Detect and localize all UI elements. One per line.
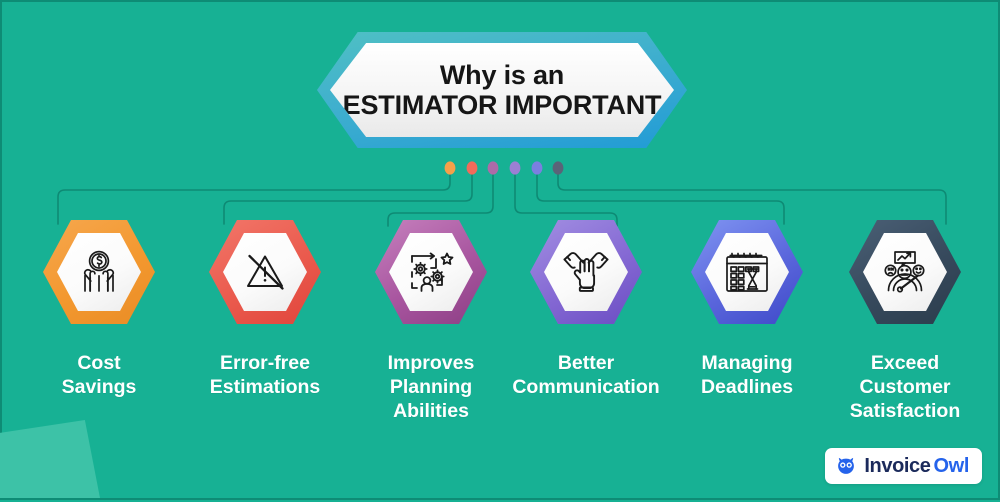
- item-label-managing-deadlines: Managing Deadlines: [662, 352, 832, 400]
- hexagon-cost-savings: [43, 220, 155, 324]
- hexagon-inner: [223, 233, 307, 311]
- item-better-communication[interactable]: Better Communication: [501, 220, 671, 400]
- item-label-cost-savings: Cost Savings: [14, 352, 184, 400]
- hexagon-better-communication: [530, 220, 642, 324]
- three-hands-together-icon: [558, 247, 614, 297]
- invoice-owl-logo[interactable]: InvoiceOwl: [825, 448, 982, 484]
- infographic-canvas: Why is an ESTIMATOR IMPORTANT: [2, 2, 998, 498]
- connector-exceed-customer: [558, 172, 946, 224]
- dot-better-comm-icon: [510, 161, 521, 174]
- item-label-improves-planning-abilities: Improves Planning Abilities: [346, 352, 516, 423]
- item-label-better-communication: Better Communication: [501, 352, 671, 400]
- connector-error-free: [224, 172, 472, 224]
- title-banner: Why is an ESTIMATOR IMPORTANT: [317, 32, 687, 148]
- page-title-line1: Why is an: [440, 60, 564, 90]
- connector-managing-deadlines: [537, 172, 784, 224]
- gears-planning-person-star-icon: [403, 247, 459, 297]
- item-managing-deadlines[interactable]: Managing Deadlines: [662, 220, 832, 400]
- connector-cost-savings: [58, 172, 450, 224]
- hexagon-error-free-estimations: [209, 220, 321, 324]
- title-banner-body: Why is an ESTIMATOR IMPORTANT: [330, 43, 674, 137]
- hexagon-improves-planning-abilities: [375, 220, 487, 324]
- hexagon-inner: [389, 233, 473, 311]
- page-title-line2: ESTIMATOR IMPORTANT: [343, 90, 662, 120]
- calendar-hourglass-icon: [719, 247, 775, 297]
- item-cost-savings[interactable]: Cost Savings: [14, 220, 184, 400]
- owl-icon: [835, 455, 857, 477]
- connector-better-communication: [515, 172, 617, 226]
- item-exceed-customer-satisfaction[interactable]: Exceed Customer Satisfaction: [820, 220, 990, 423]
- dot-improves-planning-icon: [488, 161, 499, 174]
- hexagon-inner: [863, 233, 947, 311]
- dot-exceed-customer-icon: [553, 161, 564, 174]
- item-error-free-estimations[interactable]: Error-free Estimations: [180, 220, 350, 400]
- item-label-error-free-estimations: Error-free Estimations: [180, 352, 350, 400]
- connector-dots: [445, 161, 564, 174]
- satisfaction-gauge-faces-icon: [877, 247, 933, 297]
- no-error-triangle-icon: [239, 248, 291, 296]
- dot-error-free-icon: [467, 161, 478, 174]
- hexagon-managing-deadlines: [691, 220, 803, 324]
- dot-managing-deadlines-icon: [532, 161, 543, 174]
- decorative-parallelogram: [0, 420, 100, 498]
- connector-improves-planning: [388, 172, 493, 226]
- hands-holding-coin-icon: [72, 247, 126, 297]
- item-improves-planning-abilities[interactable]: Improves Planning Abilities: [346, 220, 516, 423]
- logo-text-invoice: Invoice: [864, 455, 930, 477]
- logo-text-owl: Owl: [934, 455, 969, 477]
- hexagon-inner: [705, 233, 789, 311]
- item-label-exceed-customer-satisfaction: Exceed Customer Satisfaction: [820, 352, 990, 423]
- dot-cost-savings-icon: [445, 161, 456, 174]
- hexagon-exceed-customer-satisfaction: [849, 220, 961, 324]
- hexagon-inner: [544, 233, 628, 311]
- hexagon-inner: [57, 233, 141, 311]
